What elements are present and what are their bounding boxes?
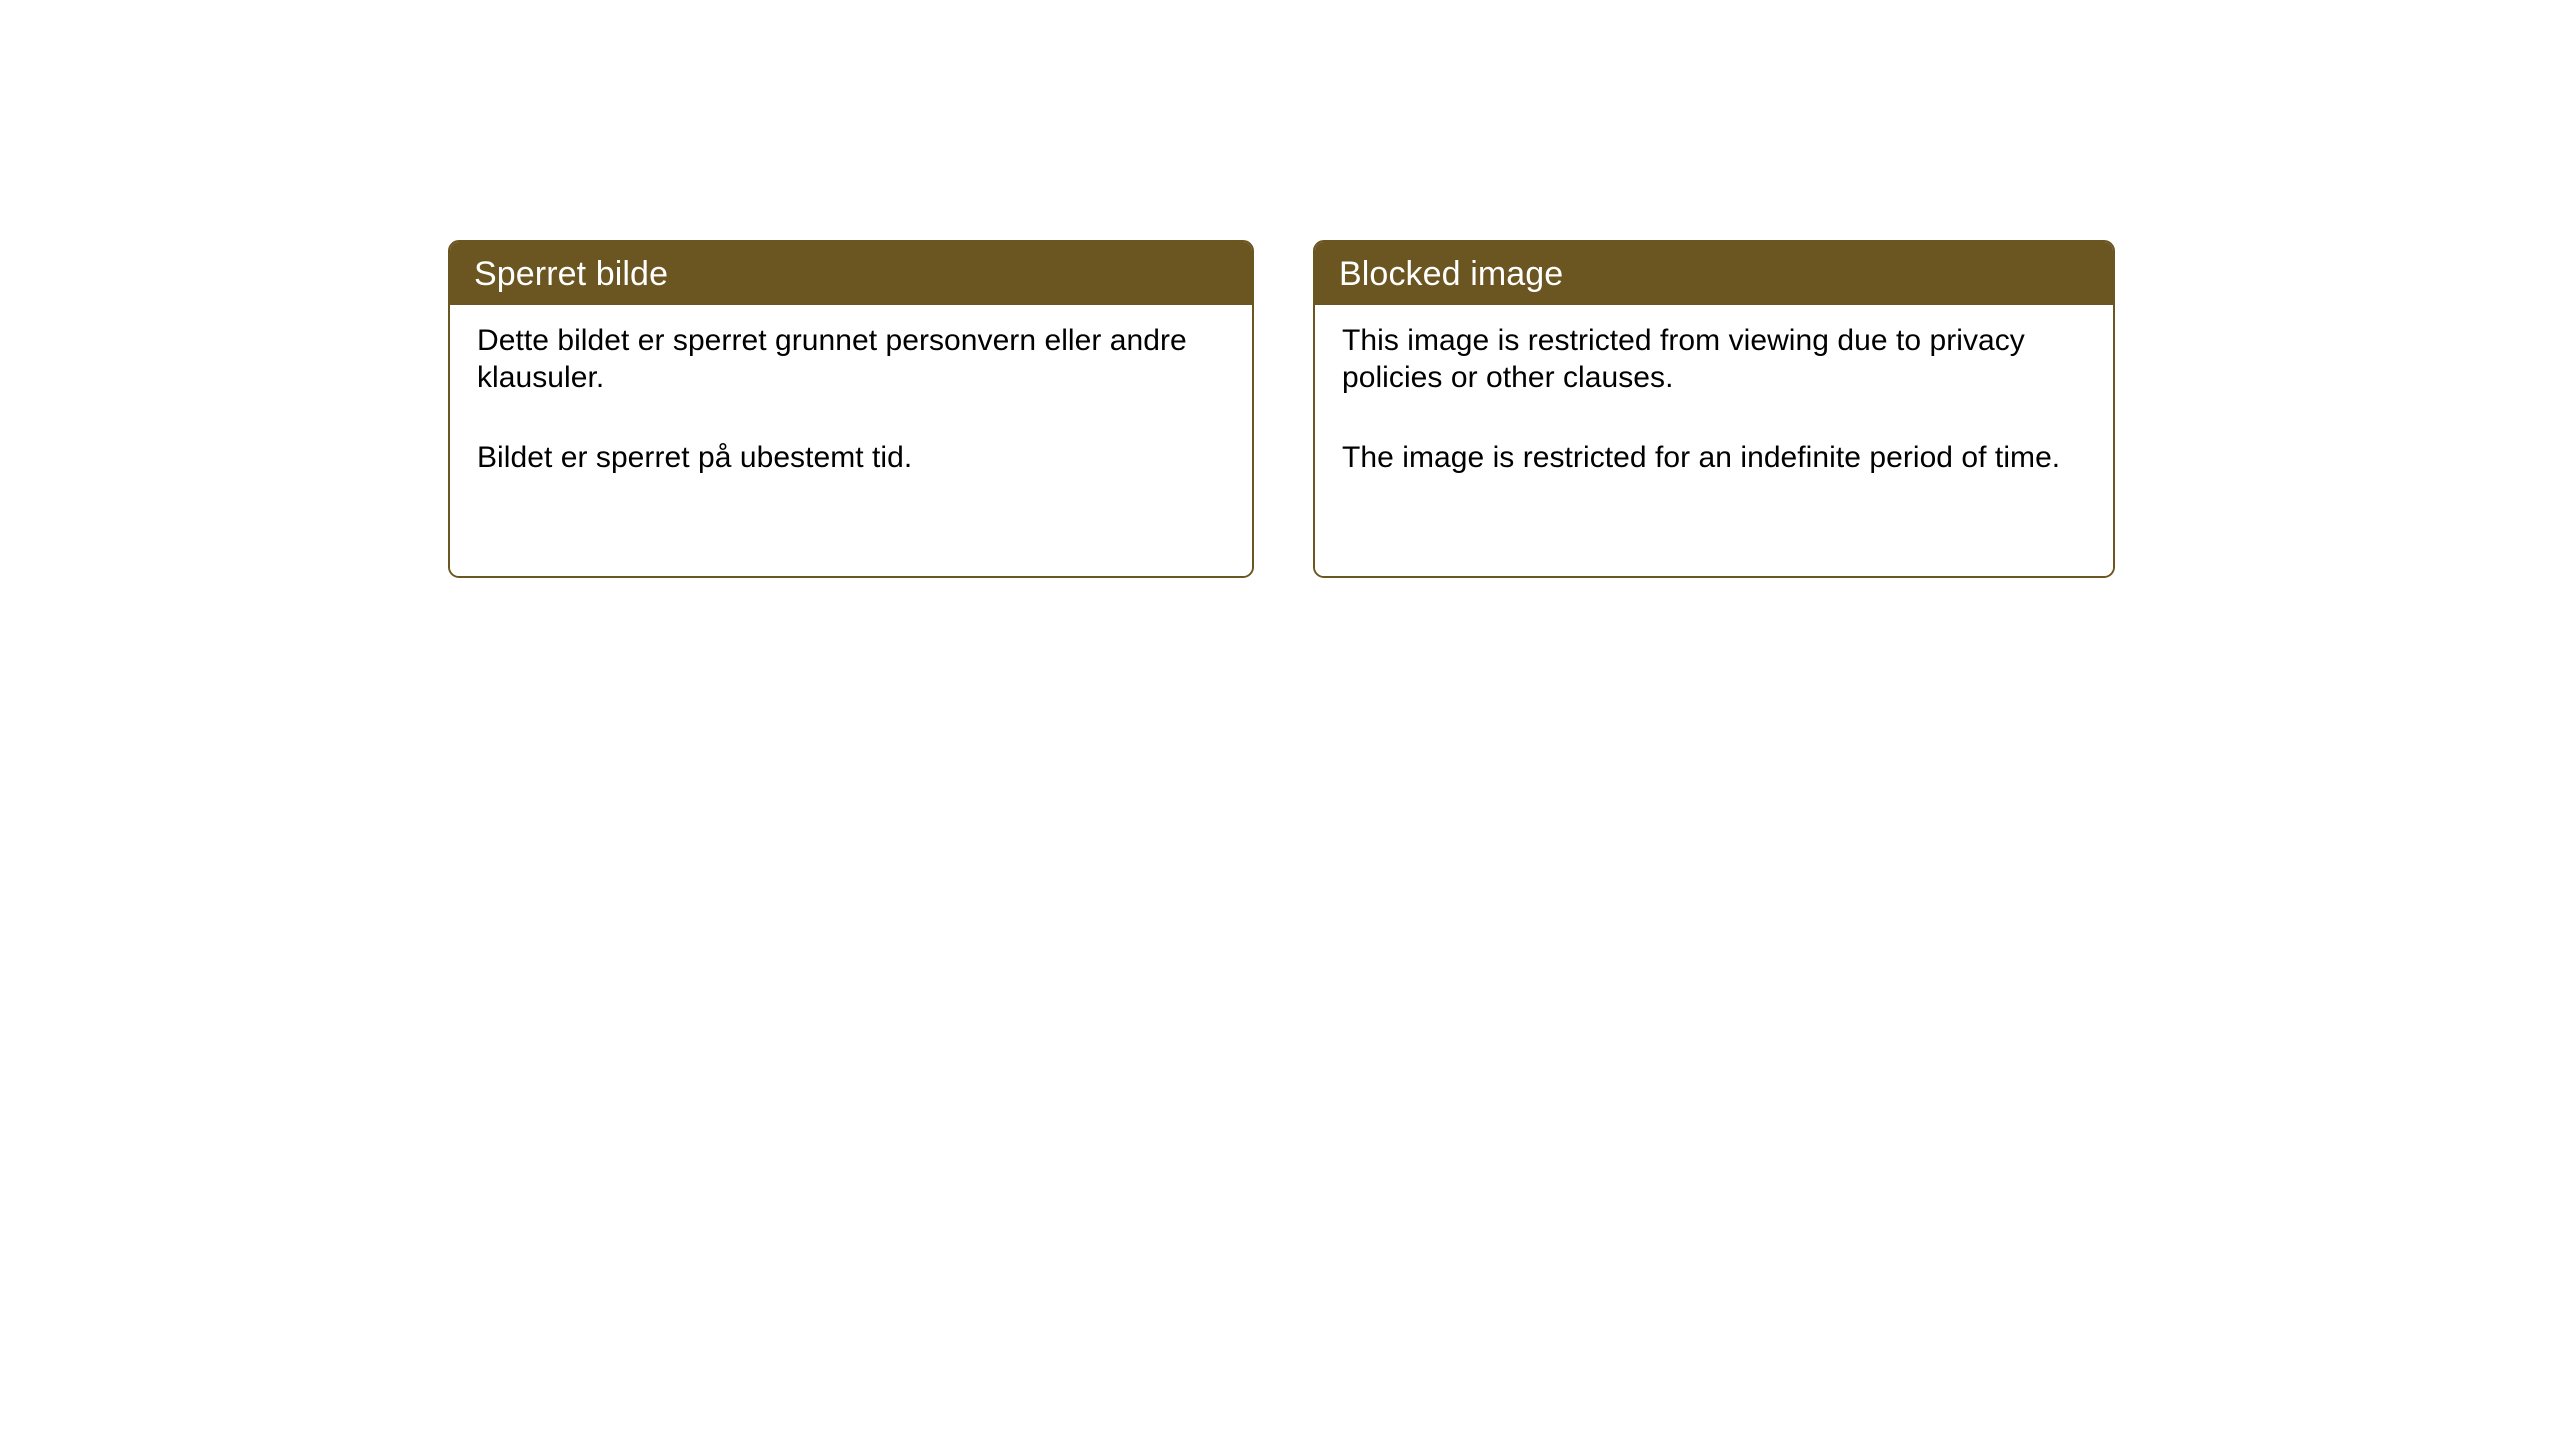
notice-paragraph-duration-norwegian: Bildet er sperret på ubestemt tid. <box>477 440 1226 477</box>
notice-paragraph-reason-norwegian: Dette bildet er sperret grunnet personve… <box>477 323 1226 396</box>
notice-paragraph-duration-english: The image is restricted for an indefinit… <box>1342 440 2087 477</box>
page-canvas: Sperret bilde Dette bildet er sperret gr… <box>0 0 2560 1440</box>
notice-header-english: Blocked image <box>1315 242 2113 305</box>
notice-title-english: Blocked image <box>1339 257 1563 291</box>
notice-body-norwegian: Dette bildet er sperret grunnet personve… <box>450 305 1252 576</box>
blocked-image-notice-english: Blocked image This image is restricted f… <box>1313 240 2115 578</box>
notice-header-norwegian: Sperret bilde <box>450 242 1252 305</box>
notice-paragraph-reason-english: This image is restricted from viewing du… <box>1342 323 2087 396</box>
notice-title-norwegian: Sperret bilde <box>474 257 668 291</box>
blocked-image-notice-norwegian: Sperret bilde Dette bildet er sperret gr… <box>448 240 1254 578</box>
notice-body-english: This image is restricted from viewing du… <box>1315 305 2113 576</box>
